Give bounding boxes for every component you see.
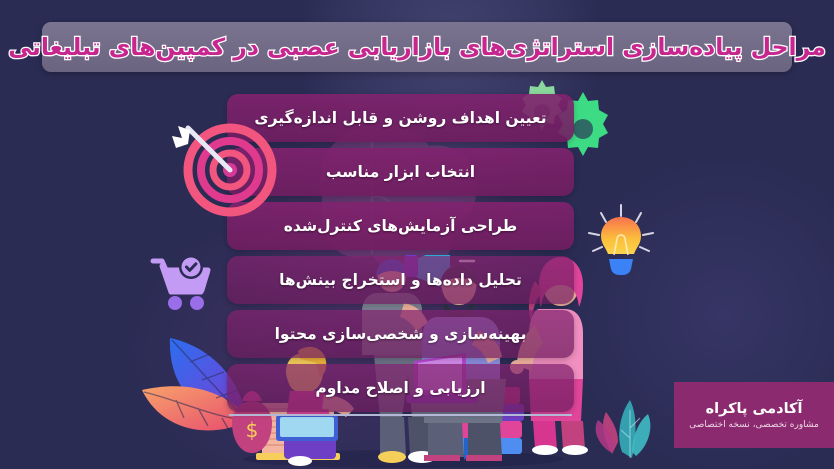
page-title-bar: مراحل پیاده‌سازی استراتژی‌های بازاریابی … bbox=[42, 22, 792, 72]
step-label-2: انتخاب ابزار مناسب bbox=[326, 163, 475, 181]
step-item-1[interactable]: تعیین اهداف روشن و قابل اندازه‌گیری bbox=[227, 94, 574, 142]
infographic-canvas: $ bbox=[0, 0, 834, 469]
brand-logo-box[interactable]: آکادمی پاکراه مشاوره تخصصی، نسخه اختصاصی bbox=[674, 382, 834, 448]
brand-name: آکادمی پاکراه bbox=[706, 401, 803, 417]
step-item-2[interactable]: انتخاب ابزار مناسب bbox=[227, 148, 574, 196]
page-title: مراحل پیاده‌سازی استراتژی‌های بازاریابی … bbox=[8, 33, 826, 61]
lightbulb-icon bbox=[585, 203, 657, 285]
step-label-3: طراحی آزمایش‌های کنترل‌شده bbox=[284, 217, 517, 235]
shopping-cart-icon bbox=[147, 253, 221, 321]
step-underline-6 bbox=[229, 414, 572, 416]
steps-list: تعیین اهداف روشن و قابل اندازه‌گیری انتخ… bbox=[227, 94, 574, 412]
step-item-5[interactable]: بهینه‌سازی و شخصی‌سازی محتوا bbox=[227, 310, 574, 358]
plant-icon bbox=[592, 368, 664, 460]
step-label-5: بهینه‌سازی و شخصی‌سازی محتوا bbox=[275, 325, 527, 343]
step-label-6: ارزیابی و اصلاح مداوم bbox=[315, 379, 485, 397]
brand-tagline: مشاوره تخصصی، نسخه اختصاصی bbox=[689, 420, 819, 430]
step-item-6[interactable]: ارزیابی و اصلاح مداوم bbox=[227, 364, 574, 412]
step-item-4[interactable]: تحلیل داده‌ها و استخراج بینش‌ها bbox=[227, 256, 574, 304]
svg-text:$: $ bbox=[246, 418, 259, 442]
step-label-4: تحلیل داده‌ها و استخراج بینش‌ها bbox=[279, 271, 522, 289]
step-label-1: تعیین اهداف روشن و قابل اندازه‌گیری bbox=[254, 109, 546, 127]
step-item-3[interactable]: طراحی آزمایش‌های کنترل‌شده bbox=[227, 202, 574, 250]
